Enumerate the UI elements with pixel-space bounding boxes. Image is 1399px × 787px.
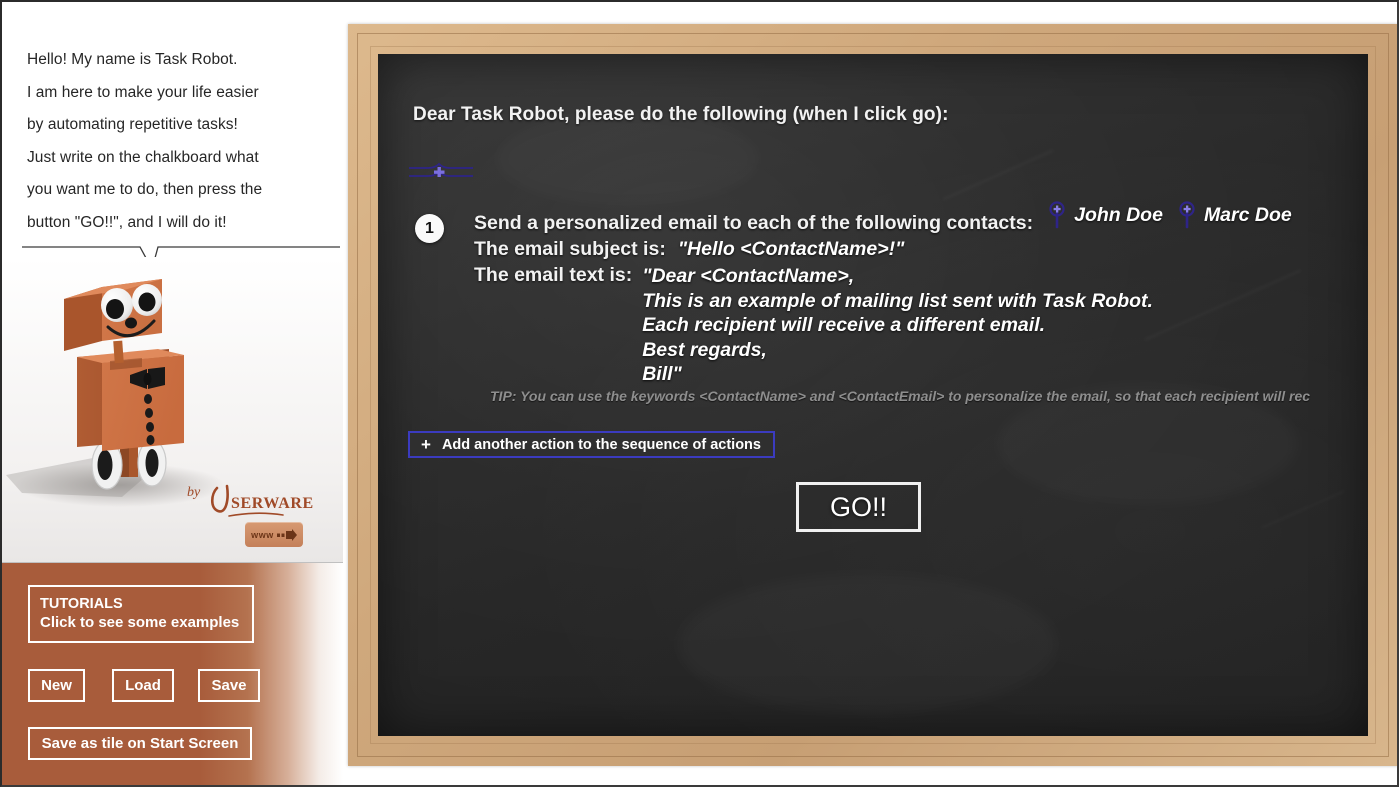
add-action-label: Add another action to the sequence of ac… [442,437,761,453]
intro-line-6: button "GO!!", and I will do it! [27,207,322,240]
insert-action-plus-icon[interactable] [408,160,474,182]
svg-text:SERWARE: SERWARE [231,495,314,512]
chalkboard-frame: Dear Task Robot, please do the following… [348,24,1398,766]
email-subject-row[interactable]: The email subject is: "Hello <ContactNam… [474,238,1368,261]
userware-logo: by SERWARE [185,480,325,524]
new-button[interactable]: New [28,669,85,702]
email-text-line-5: Bill" [642,362,1153,387]
action-description-row: Send a personalized email to each of the… [474,201,1368,235]
www-link-button[interactable]: www [245,522,303,547]
intro-line-3: by automating repetitive tasks! [27,109,322,142]
action-body: Send a personalized email to each of the… [474,201,1368,387]
email-subject-label: The email subject is: [474,238,666,261]
load-button[interactable]: Load [112,669,174,702]
action-number-badge: 1 [415,214,444,243]
go-button[interactable]: GO!! [796,482,921,532]
contact-pin-icon [1047,201,1067,229]
contact-pin-icon [1177,201,1197,229]
intro-line-4: Just write on the chalkboard what [27,142,322,175]
board-content: Dear Task Robot, please do the following… [378,54,1368,736]
intro-speech-text: Hello! My name is Task Robot. I am here … [27,44,322,239]
bottom-toolbar-panel: TUTORIALS Click to see some examples New… [2,562,343,787]
plus-icon: + [421,436,431,453]
contact-name: John Doe [1074,204,1163,227]
save-as-tile-button[interactable]: Save as tile on Start Screen [28,727,252,760]
chalkboard-surface[interactable]: Dear Task Robot, please do the following… [378,54,1368,736]
email-text-label: The email text is: [474,264,632,287]
tutorials-subtitle: Click to see some examples [40,613,252,633]
intro-line-5: you want me to do, then press the [27,174,322,207]
task-robot-window: Hello! My name is Task Robot. I am here … [0,0,1399,787]
intro-line-1: Hello! My name is Task Robot. [27,44,322,77]
intro-line-2: I am here to make your life easier [27,77,322,110]
tutorials-button[interactable]: TUTORIALS Click to see some examples [28,585,254,643]
tutorials-title: TUTORIALS [40,595,252,613]
arrow-right-icon [277,529,297,541]
contact-chip-marc-doe[interactable]: Marc Doe [1177,201,1292,229]
email-text-row[interactable]: The email text is: "Dear <ContactName>, … [474,264,1368,387]
email-text-value: "Dear <ContactName>, This is an example … [642,264,1153,387]
email-text-line-1: "Dear <ContactName>, [642,264,1153,289]
contact-chip-john-doe[interactable]: John Doe [1047,201,1163,229]
contact-name: Marc Doe [1204,204,1292,227]
email-text-line-2: This is an example of mailing list sent … [642,289,1153,314]
add-action-button[interactable]: + Add another action to the sequence of … [408,431,775,458]
email-subject-value: "Hello <ContactName>!" [678,238,905,261]
svg-text:by: by [187,485,201,500]
save-button[interactable]: Save [198,669,260,702]
email-text-line-3: Each recipient will receive a different … [642,313,1153,338]
action-description: Send a personalized email to each of the… [474,212,1033,235]
email-text-line-4: Best regards, [642,338,1153,363]
tip-text: TIP: You can use the keywords <ContactNa… [490,388,1310,404]
board-title: Dear Task Robot, please do the following… [413,104,949,126]
www-label: www [251,530,274,540]
left-sidebar: Hello! My name is Task Robot. I am here … [2,2,343,787]
